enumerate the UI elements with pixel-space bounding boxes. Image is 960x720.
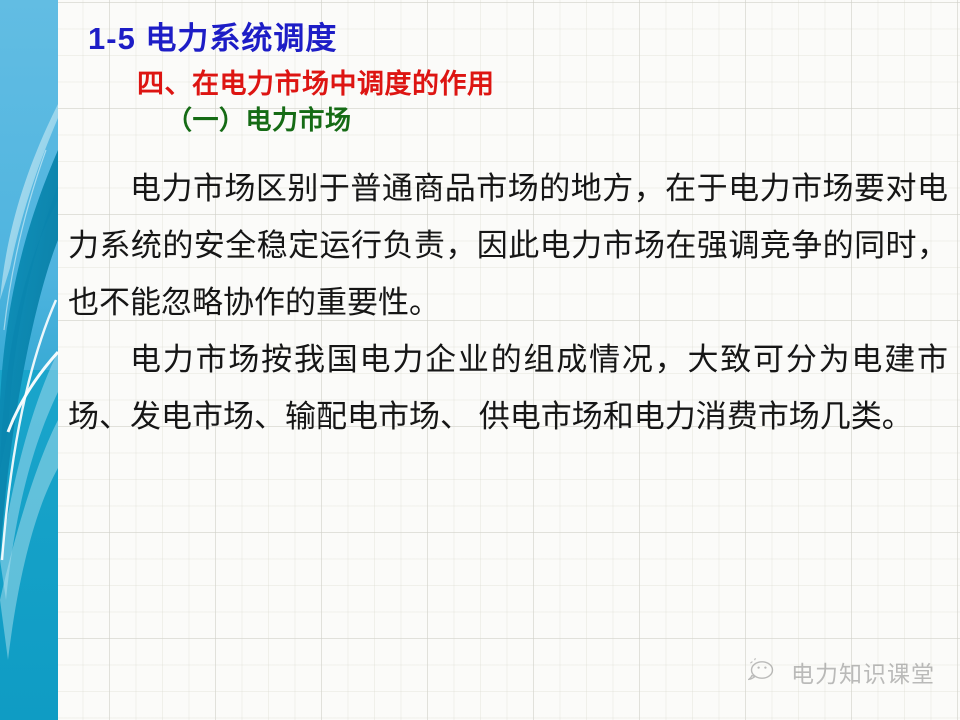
watermark: 电力知识课堂	[748, 655, 935, 689]
body-paragraph-1: 电力市场区别于普通商品市场的地方，在于电力市场要对电力系统的安全稳定运行负责，因…	[68, 160, 948, 331]
slide-canvas: 1-5 电力系统调度 四、在电力市场中调度的作用 （一）电力市场 电力市场区别于…	[0, 0, 960, 720]
wechat-bubble-icon	[748, 657, 782, 688]
body-text-block: 电力市场区别于普通商品市场的地方，在于电力市场要对电力系统的安全稳定运行负责，因…	[68, 160, 948, 445]
body-paragraph-2: 电力市场按我国电力企业的组成情况，大致可分为电建市场、发电市场、输配电市场、 供…	[68, 331, 948, 445]
blue-band-graphic	[0, 0, 58, 720]
decorative-blue-band	[0, 0, 58, 720]
section-heading-red: 四、在电力市场中调度的作用	[137, 62, 495, 101]
watermark-text: 电力知识课堂	[791, 655, 935, 689]
page-title: 1-5 电力系统调度	[88, 13, 337, 58]
section-heading-green: （一）电力市场	[166, 100, 352, 137]
